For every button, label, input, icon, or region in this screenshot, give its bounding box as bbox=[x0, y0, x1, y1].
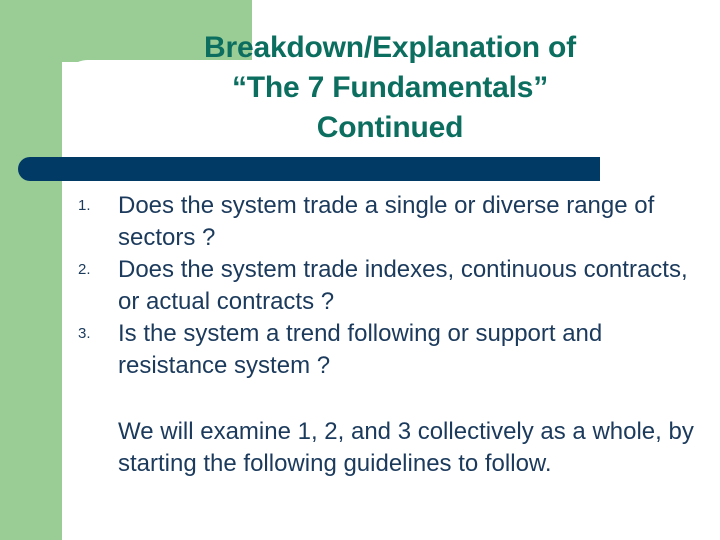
slide-canvas: Breakdown/Explanation of “The 7 Fundamen… bbox=[0, 0, 720, 540]
list-item: Does the system trade a single or divers… bbox=[118, 190, 712, 254]
slide-body: Does the system trade a single or divers… bbox=[72, 190, 712, 480]
fundamentals-list: Does the system trade a single or divers… bbox=[72, 190, 712, 382]
slide-title: Breakdown/Explanation of “The 7 Fundamen… bbox=[70, 28, 710, 148]
title-divider-bar bbox=[18, 157, 600, 181]
green-left-panel bbox=[0, 0, 62, 540]
closing-paragraph: We will examine 1, 2, and 3 collectively… bbox=[118, 416, 718, 480]
list-item: Is the system a trend following or suppo… bbox=[118, 318, 712, 382]
list-item: Does the system trade indexes, continuou… bbox=[118, 254, 712, 318]
